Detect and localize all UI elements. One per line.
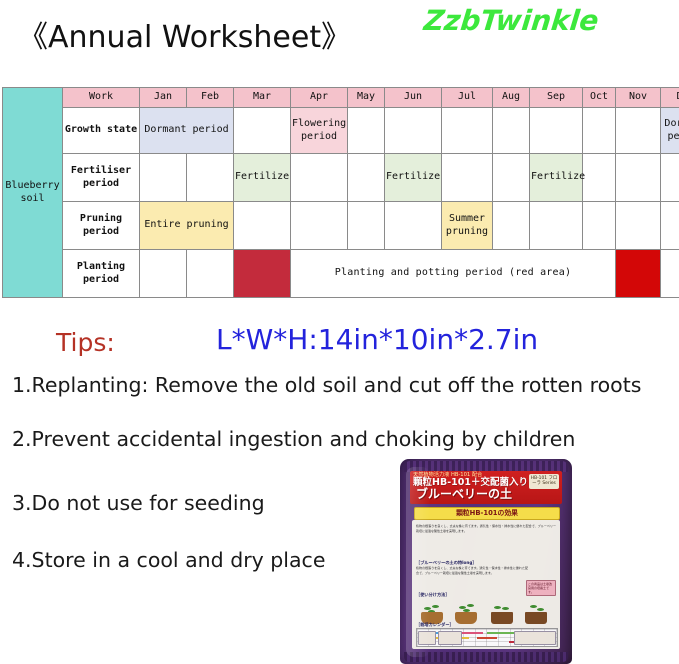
bag-footer-marks	[418, 631, 558, 645]
cell-growth-jul	[442, 108, 493, 154]
cell-growth-aug	[493, 108, 530, 154]
column-header-jun: Jun	[385, 88, 442, 108]
bag-body-text: 植物の根張りを良くし、丈夫な株に育てます。通気性・保水性・排水性に優れた配合で、…	[416, 524, 556, 533]
product-bag-image: 天然植物活力液 HB-101 配合 顆粒HB-101＋交配菌入り ブルーベリーの…	[400, 459, 572, 664]
cell-prune-aug	[493, 202, 530, 250]
cell-fert-feb	[187, 154, 234, 202]
cell-growth-jun	[385, 108, 442, 154]
cell-growth-oct	[583, 108, 616, 154]
column-header-may: May	[348, 88, 385, 108]
column-header-oct: Oct	[583, 88, 616, 108]
column-header-work: Work	[63, 88, 140, 108]
cell-prune-jun	[385, 202, 442, 250]
cell-prune-mar	[234, 202, 291, 250]
bag-yellow-band: 顆粒HB-101の効果	[414, 507, 560, 520]
bag-info-panel: 植物の根張りを良くし、丈夫な株に育てます。通気性・保水性・排水性に優れた配合で、…	[412, 520, 560, 649]
bag-series-badge: HB-101 フローラ Series	[529, 474, 559, 489]
bag-bottom-seal	[404, 652, 568, 662]
manufacturer-mark	[514, 631, 556, 645]
cell-fert-aug	[493, 154, 530, 202]
tip-item-4: 4.Store in a cool and dry place	[12, 548, 325, 572]
cell-growth-may	[348, 108, 385, 154]
row-label-pruning-period: Pruning period	[63, 202, 140, 250]
cell-plant-apr-oct-note: Planting and potting period (red area)	[291, 250, 616, 298]
cell-prune-nov	[616, 202, 661, 250]
brand-watermark: ZzbTwinkle	[422, 4, 600, 37]
table-row-pruning-period: Pruning period Entire pruning Summer pru…	[3, 202, 679, 250]
cell-growth-sep	[530, 108, 583, 154]
bag-red-banner: 天然植物活力液 HB-101 配合 顆粒HB-101＋交配菌入り ブルーベリーの…	[410, 471, 562, 504]
row-label-growth-state: Growth state	[63, 108, 140, 154]
cell-prune-sep	[530, 202, 583, 250]
pot-icon-1	[418, 598, 446, 624]
cell-fert-mar: Fertilize	[234, 154, 291, 202]
column-header-mar: Mar	[234, 88, 291, 108]
cell-prune-dec	[661, 202, 679, 250]
page-title: 《Annual Worksheet》	[18, 12, 351, 56]
tip-item-3: 3.Do not use for seeding	[12, 491, 265, 515]
cell-prune-may	[348, 202, 385, 250]
cell-plant-dec	[661, 250, 679, 298]
recycle-mark-icon	[418, 631, 436, 645]
bag-yellow-band-label: 顆粒HB-101の効果	[415, 508, 559, 518]
bag-banner-title: ブルーベリーの土	[416, 488, 512, 500]
annual-worksheet-table: Blueberry soil Work Jan Feb Mar Apr May …	[2, 87, 679, 298]
column-header-nov: Nov	[616, 88, 661, 108]
cell-fert-nov	[616, 154, 661, 202]
table-row-fertiliser-period: Fertiliser period Fertilize Fertilize Fe…	[3, 154, 679, 202]
side-header-cell: Blueberry soil	[3, 88, 63, 298]
cell-plant-nov-red-block	[616, 250, 661, 298]
bag-blueberry-text: 植物の根張りを良くし、丈夫な株に育てます。通気性・保水性・排水性に優れた配合で、…	[416, 566, 528, 575]
cell-growth-mar	[234, 108, 291, 154]
column-header-feb: Feb	[187, 88, 234, 108]
cell-plant-feb	[187, 250, 234, 298]
cell-plant-jan	[140, 250, 187, 298]
column-header-dec: Dec	[661, 88, 679, 108]
cell-fert-jul	[442, 154, 493, 202]
tips-heading: Tips:	[56, 328, 115, 357]
bag-front-label: 天然植物活力液 HB-101 配合 顆粒HB-101＋交配菌入り ブルーベリーの…	[410, 471, 562, 651]
page-header: 《Annual Worksheet》 ZzbTwinkle	[0, 0, 679, 80]
cell-fert-jun: Fertilize	[385, 154, 442, 202]
tip-item-2: 2.Prevent accidental ingestion and choki…	[12, 427, 575, 451]
cell-growth-dec: Dormant period	[661, 108, 679, 154]
cell-fert-may	[348, 154, 385, 202]
cell-growth-apr: Flowering period	[291, 108, 348, 154]
row-label-planting-period: Planting period	[63, 250, 140, 298]
cell-growth-nov	[616, 108, 661, 154]
bag-pot-illustrations	[418, 598, 554, 624]
tip-item-1: 1.Replanting: Remove the old soil and cu…	[12, 373, 641, 397]
volume-mark	[438, 631, 462, 645]
column-header-jan: Jan	[140, 88, 187, 108]
table-row-growth-state: Growth state Dormant period Flowering pe…	[3, 108, 679, 154]
pot-icon-3	[488, 598, 516, 624]
cell-fert-dec	[661, 154, 679, 202]
cell-prune-jul: Summer pruning	[442, 202, 493, 250]
cell-fert-oct	[583, 154, 616, 202]
column-header-jul: Jul	[442, 88, 493, 108]
table-header-row: Blueberry soil Work Jan Feb Mar Apr May …	[3, 88, 679, 108]
cell-growth-jan-feb: Dormant period	[140, 108, 234, 154]
soil-icon	[525, 612, 547, 624]
cell-fert-jan	[140, 154, 187, 202]
soil-icon	[455, 612, 477, 624]
pot-icon-2	[452, 598, 480, 624]
bag-side-note: この商品は土壌改良用の培養土です。	[526, 580, 556, 596]
cell-prune-jan-feb: Entire pruning	[140, 202, 234, 250]
product-dimensions: L*W*H:14in*10in*2.7in	[216, 323, 538, 356]
cell-fert-apr	[291, 154, 348, 202]
cell-prune-apr	[291, 202, 348, 250]
cell-plant-mar-red-block	[234, 250, 291, 298]
column-header-sep: Sep	[530, 88, 583, 108]
soil-icon	[491, 612, 513, 624]
column-header-apr: Apr	[291, 88, 348, 108]
side-header-label: Blueberry soil	[5, 180, 59, 204]
cell-prune-oct	[583, 202, 616, 250]
cell-fert-sep: Fertilize	[530, 154, 583, 202]
row-label-fertiliser-period: Fertiliser period	[63, 154, 140, 202]
table-row-planting-period: Planting period Planting and potting per…	[3, 250, 679, 298]
column-header-aug: Aug	[493, 88, 530, 108]
pot-icon-4	[522, 598, 550, 624]
